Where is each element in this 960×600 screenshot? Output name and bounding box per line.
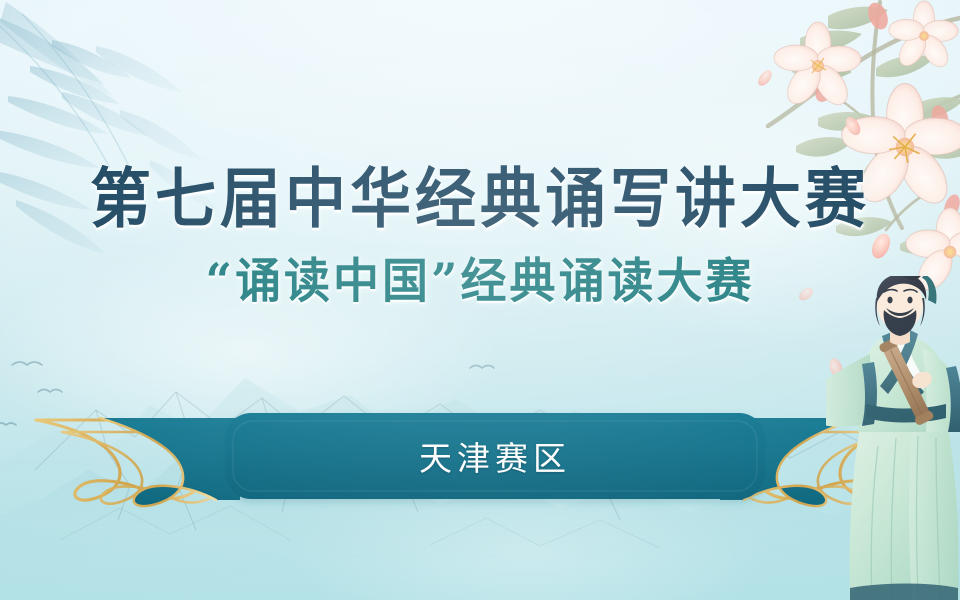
page-title: 第七届中华经典诵写讲大赛 [0,166,960,233]
poster-canvas: 第七届中华经典诵写讲大赛 “诵读中国”经典诵读大赛 [0,0,960,600]
status-badge: 天津赛区 [225,413,765,499]
title-block: 第七届中华经典诵写讲大赛 “诵读中国”经典诵读大赛 [0,168,960,306]
page-subtitle: “诵读中国”经典诵读大赛 [0,256,960,306]
blossom-flower [774,22,861,111]
scholar-hem [850,584,958,600]
blossom-flower [889,1,959,72]
scholar-illustration [826,276,960,600]
